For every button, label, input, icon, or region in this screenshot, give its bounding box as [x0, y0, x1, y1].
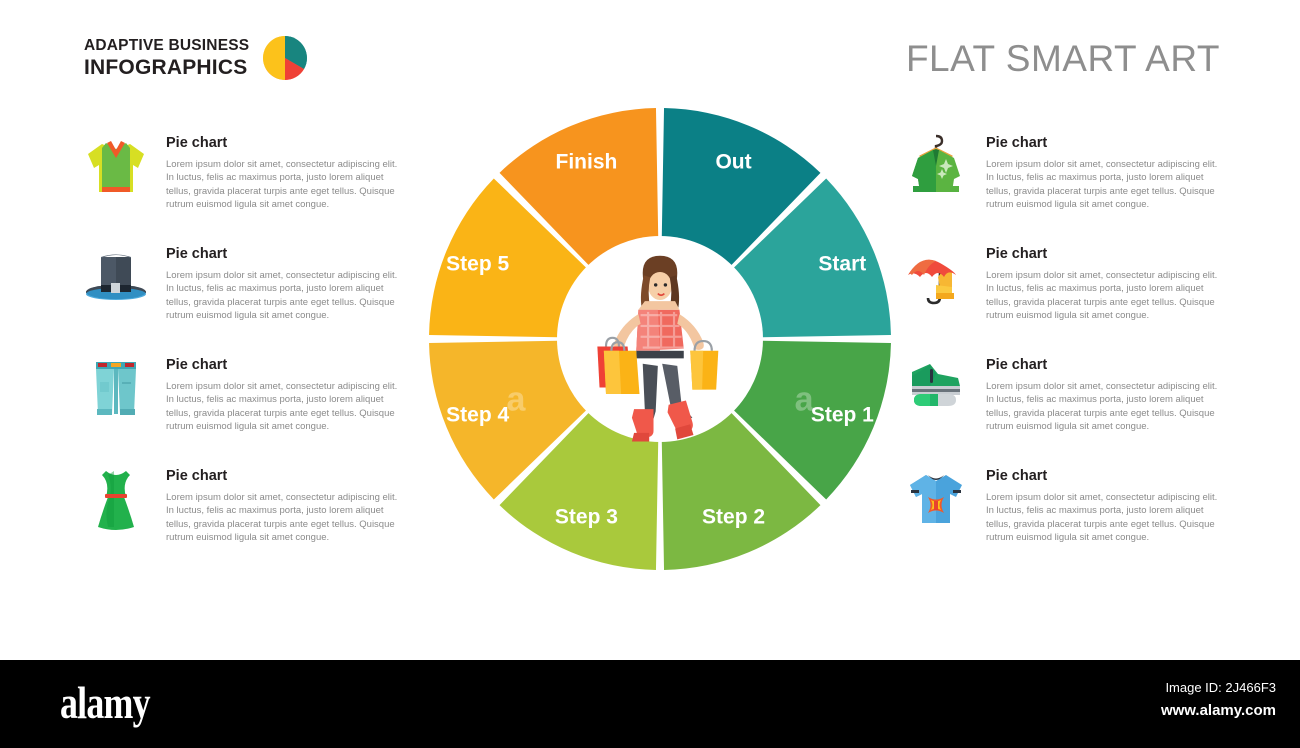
list-item-title: Pie chart	[986, 247, 1240, 263]
t-shirt-icon	[900, 463, 972, 537]
list-item-description: Lorem ipsum dolor sit amet, consectetur …	[986, 269, 1218, 323]
alamy-logo: alamy	[60, 676, 150, 729]
donut-label-out: Out	[715, 150, 751, 173]
list-item[interactable]: Pie chart Lorem ipsum dolor sit amet, co…	[80, 463, 420, 574]
list-item-body: Pie chart Lorem ipsum dolor sit amet, co…	[166, 463, 420, 574]
list-item-body: Pie chart Lorem ipsum dolor sit amet, co…	[986, 463, 1240, 574]
list-item-body: Pie chart Lorem ipsum dolor sit amet, co…	[986, 241, 1240, 352]
list-item[interactable]: Pie chart Lorem ipsum dolor sit amet, co…	[80, 241, 420, 352]
list-item-description: Lorem ipsum dolor sit amet, consectetur …	[986, 380, 1218, 434]
list-item-title: Pie chart	[986, 469, 1240, 485]
donut-label-step-1: Step 1	[811, 404, 874, 427]
jacket-on-hanger-icon	[900, 130, 972, 204]
alamy-watermark-bar: alamy Image ID: 2J466F3 www.alamy.com	[0, 660, 1300, 748]
brand-lockup: ADAPTIVE BUSINESS INFOGRAPHICS	[84, 36, 307, 80]
right-feature-list: Pie chart Lorem ipsum dolor sit amet, co…	[900, 130, 1240, 574]
alamy-url: www.alamy.com	[1161, 702, 1276, 719]
list-item-title: Pie chart	[166, 469, 420, 485]
donut-label-step-4: Step 4	[446, 404, 509, 427]
brand-text: ADAPTIVE BUSINESS INFOGRAPHICS	[84, 38, 249, 78]
sweater-icon	[80, 130, 152, 204]
list-item-title: Pie chart	[166, 247, 420, 263]
brand-line-1: ADAPTIVE BUSINESS	[84, 38, 249, 54]
list-item[interactable]: Pie chart Lorem ipsum dolor sit amet, co…	[900, 463, 1240, 574]
list-item-description: Lorem ipsum dolor sit amet, consectetur …	[166, 269, 398, 323]
list-item-title: Pie chart	[166, 136, 420, 152]
donut-label-step-3: Step 3	[555, 506, 618, 529]
list-item-title: Pie chart	[166, 358, 420, 374]
donut-label-step-2: Step 2	[702, 506, 765, 529]
jeans-icon	[80, 352, 152, 426]
list-item-body: Pie chart Lorem ipsum dolor sit amet, co…	[166, 352, 420, 463]
pie-chart-logo-icon	[263, 36, 307, 80]
list-item-body: Pie chart Lorem ipsum dolor sit amet, co…	[986, 130, 1240, 241]
top-hat-icon	[80, 241, 152, 315]
list-item-body: Pie chart Lorem ipsum dolor sit amet, co…	[986, 352, 1240, 463]
list-item-description: Lorem ipsum dolor sit amet, consectetur …	[166, 380, 398, 434]
list-item[interactable]: Pie chart Lorem ipsum dolor sit amet, co…	[900, 352, 1240, 463]
left-feature-list: Pie chart Lorem ipsum dolor sit amet, co…	[80, 130, 420, 574]
page-title: FLAT SMART ART	[906, 38, 1220, 80]
donut-label-finish: Finish	[556, 150, 618, 173]
list-item-description: Lorem ipsum dolor sit amet, consectetur …	[166, 491, 398, 545]
list-item-body: Pie chart Lorem ipsum dolor sit amet, co…	[166, 241, 420, 352]
donut-label-start: Start	[818, 252, 866, 275]
list-item-title: Pie chart	[986, 136, 1240, 152]
list-item[interactable]: Pie chart Lorem ipsum dolor sit amet, co…	[900, 130, 1240, 241]
umbrella-and-boots-icon	[900, 241, 972, 315]
list-item-description: Lorem ipsum dolor sit amet, consectetur …	[986, 491, 1218, 545]
sneakers-icon	[900, 352, 972, 426]
slice-watermark-glyph: a	[506, 381, 526, 419]
slice-watermark-glyph: a	[795, 381, 815, 419]
infographic-page: ADAPTIVE BUSINESS INFOGRAPHICS FLAT SMAR…	[0, 0, 1300, 748]
dress-icon	[80, 463, 152, 537]
list-item-description: Lorem ipsum dolor sit amet, consectetur …	[166, 158, 398, 212]
donut-process-chart: OutStartStep 1aStep 2Step 3Step 4aStep 5…	[429, 104, 891, 574]
list-item-description: Lorem ipsum dolor sit amet, consectetur …	[986, 158, 1218, 212]
list-item-title: Pie chart	[986, 358, 1240, 374]
brand-line-2: INFOGRAPHICS	[84, 57, 249, 78]
list-item[interactable]: Pie chart Lorem ipsum dolor sit amet, co…	[900, 241, 1240, 352]
list-item[interactable]: Pie chart Lorem ipsum dolor sit amet, co…	[80, 352, 420, 463]
list-item[interactable]: Pie chart Lorem ipsum dolor sit amet, co…	[80, 130, 420, 241]
donut-label-step-5: Step 5	[446, 252, 509, 275]
image-id-label: Image ID: 2J466F3	[1165, 680, 1276, 695]
list-item-body: Pie chart Lorem ipsum dolor sit amet, co…	[166, 130, 420, 241]
